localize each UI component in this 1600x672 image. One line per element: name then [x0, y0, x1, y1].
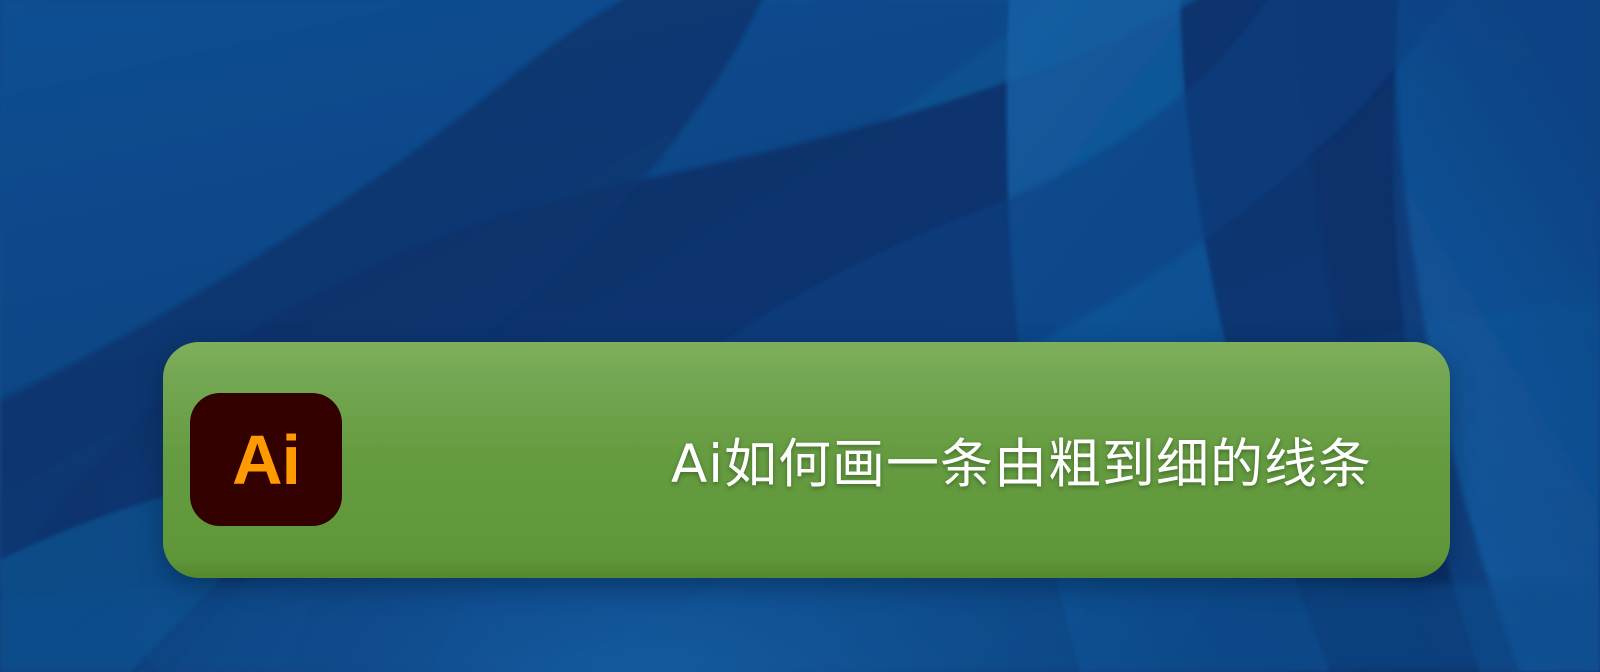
title-card: Ai Ai如何画一条由粗到细的线条 [163, 342, 1450, 578]
adobe-illustrator-icon-label: Ai [232, 425, 300, 495]
screenshot-canvas: Ai Ai如何画一条由粗到细的线条 [0, 0, 1600, 672]
page-title: Ai如何画一条由粗到细的线条 [671, 342, 1372, 578]
adobe-illustrator-icon[interactable]: Ai [190, 393, 342, 526]
